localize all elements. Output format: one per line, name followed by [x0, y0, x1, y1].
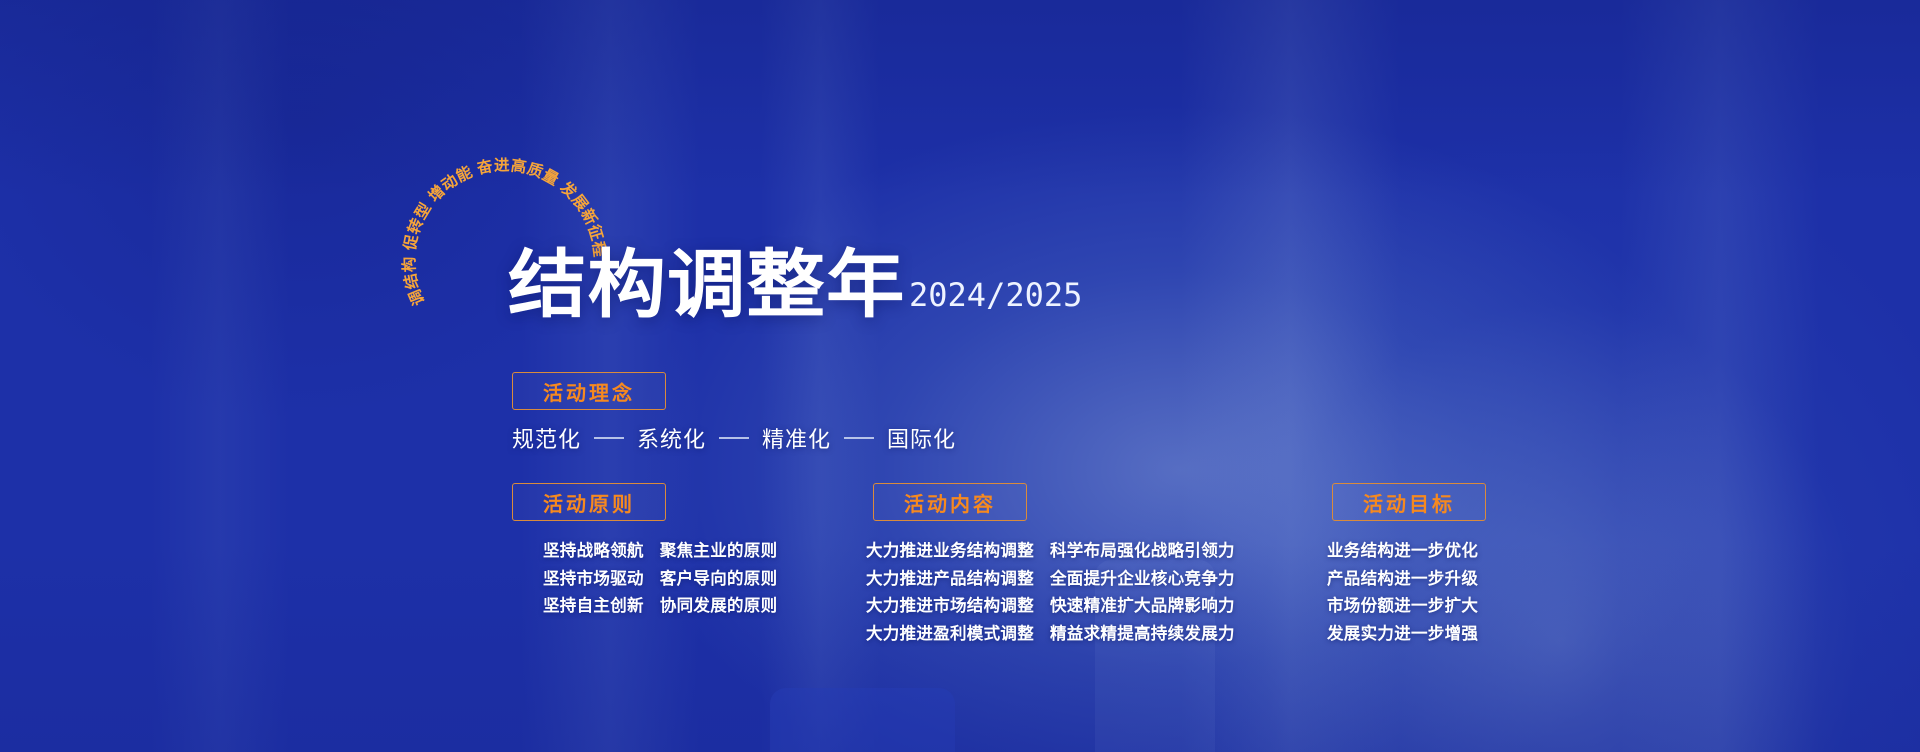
background-block-3	[770, 688, 955, 752]
concept-divider-0	[594, 437, 624, 439]
badge-principle[interactable]: 活动原则	[512, 483, 666, 521]
list-item: 市场份额进一步扩大	[1327, 592, 1478, 620]
goal-row-0: 业务结构进一步优化	[1327, 537, 1478, 565]
principle-row-1-left: 坚持市场驱动	[543, 565, 644, 593]
concept-divider-2	[844, 437, 874, 439]
banner-stage: 调结构 促转型 增动能 奋进高质量 发展新征程 结构调整年 2024/2025 …	[0, 0, 1920, 752]
year-range: 2024/2025	[909, 276, 1082, 321]
list-item: 大力推进市场结构调整 快速精准扩大品牌影响力	[866, 592, 1235, 620]
page-title: 结构调整年	[508, 250, 906, 321]
list-item: 发展实力进一步增强	[1327, 620, 1478, 648]
background-band-5	[1620, 0, 1820, 752]
concept-item-3: 国际化	[887, 422, 956, 454]
content-row-0-right: 科学布局强化战略引领力	[1050, 537, 1235, 565]
principle-row-0-right: 聚焦主业的原则	[660, 537, 778, 565]
list-item: 大力推进产品结构调整 全面提升企业核心竞争力	[866, 565, 1235, 593]
content-list: 大力推进业务结构调整 科学布局强化战略引领力 大力推进产品结构调整 全面提升企业…	[866, 537, 1235, 647]
principle-list: 坚持战略领航 聚焦主业的原则 坚持市场驱动 客户导向的原则 坚持自主创新 协同发…	[543, 537, 777, 620]
content-row-1-right: 全面提升企业核心竞争力	[1050, 565, 1235, 593]
content-row-1-left: 大力推进产品结构调整	[866, 565, 1034, 593]
principle-row-2-right: 协同发展的原则	[660, 592, 778, 620]
list-item: 坚持战略领航 聚焦主业的原则	[543, 537, 777, 565]
badge-concept[interactable]: 活动理念	[512, 372, 666, 410]
list-item: 业务结构进一步优化	[1327, 537, 1478, 565]
principle-row-2-left: 坚持自主创新	[543, 592, 644, 620]
list-item: 坚持市场驱动 客户导向的原则	[543, 565, 777, 593]
concept-item-1: 系统化	[637, 422, 706, 454]
list-item: 产品结构进一步升级	[1327, 565, 1478, 593]
background-band-1	[150, 0, 290, 752]
concept-item-0: 规范化	[512, 422, 581, 454]
concept-item-2: 精准化	[762, 422, 831, 454]
list-item: 大力推进盈利模式调整 精益求精提高持续发展力	[866, 620, 1235, 648]
goal-list: 业务结构进一步优化 产品结构进一步升级 市场份额进一步扩大 发展实力进一步增强	[1327, 537, 1478, 647]
content-row-0-left: 大力推进业务结构调整	[866, 537, 1034, 565]
badge-goal[interactable]: 活动目标	[1332, 483, 1486, 521]
content-row-2-left: 大力推进市场结构调整	[866, 592, 1034, 620]
principle-row-0-left: 坚持战略领航	[543, 537, 644, 565]
goal-row-3: 发展实力进一步增强	[1327, 620, 1478, 648]
content-row-3-left: 大力推进盈利模式调整	[866, 620, 1034, 648]
concept-list: 规范化 系统化 精准化 国际化	[512, 422, 956, 454]
list-item: 大力推进业务结构调整 科学布局强化战略引领力	[866, 537, 1235, 565]
goal-row-2: 市场份额进一步扩大	[1327, 592, 1478, 620]
concept-divider-1	[719, 437, 749, 439]
content-row-2-right: 快速精准扩大品牌影响力	[1050, 592, 1235, 620]
goal-row-1: 产品结构进一步升级	[1327, 565, 1478, 593]
background-band-3	[760, 0, 880, 752]
principle-row-1-right: 客户导向的原则	[660, 565, 778, 593]
badge-content[interactable]: 活动内容	[873, 483, 1027, 521]
content-row-3-right: 精益求精提高持续发展力	[1050, 620, 1235, 648]
list-item: 坚持自主创新 协同发展的原则	[543, 592, 777, 620]
headline: 结构调整年 2024/2025	[508, 250, 1082, 321]
